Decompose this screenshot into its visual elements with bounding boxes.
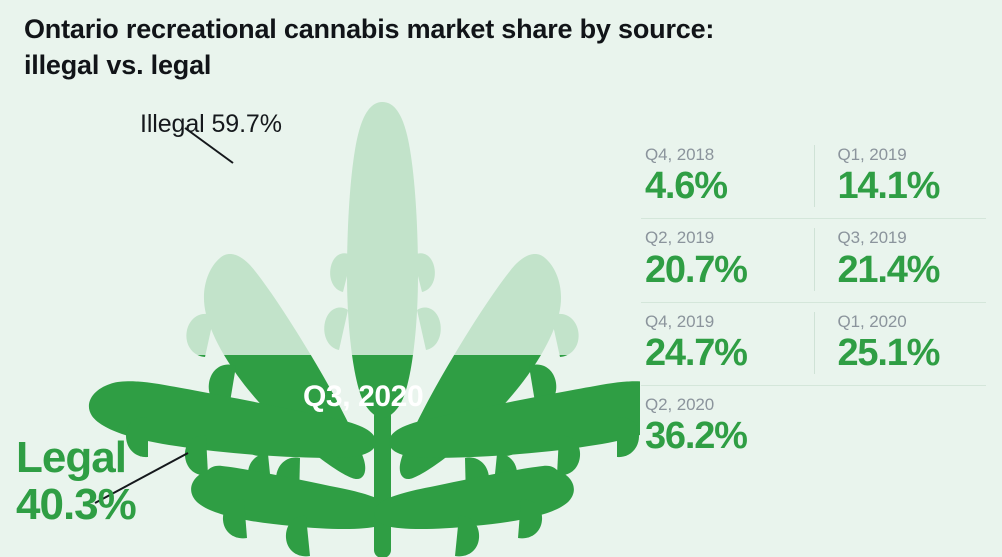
stat-cell: Q2, 201920.7% [641,219,814,301]
current-period-label: Q3, 2020 [303,380,423,414]
stat-row: Q4, 20184.6%Q1, 201914.1% [641,136,986,218]
stat-row: Q4, 201924.7%Q1, 202025.1% [641,302,986,385]
legal-share-label-word: Legal [16,434,136,481]
stat-period-label: Q4, 2019 [645,311,814,332]
legal-share-label-value: 40.3% [16,481,136,528]
stat-cell-empty [814,386,987,468]
stat-row: Q2, 202036.2% [641,385,986,468]
infographic-root: Ontario recreational cannabis market sha… [0,0,1002,557]
stat-value: 14.1% [838,166,987,207]
stat-cell: Q2, 202036.2% [641,386,814,468]
stat-value: 36.2% [645,416,814,457]
stat-period-label: Q3, 2019 [838,227,987,248]
stat-value: 4.6% [645,166,814,207]
stat-value: 25.1% [838,333,987,374]
title-line-1: Ontario recreational cannabis market sha… [24,12,864,48]
stat-value: 24.7% [645,333,814,374]
stat-row: Q2, 201920.7%Q3, 201921.4% [641,218,986,301]
legal-share-label: Legal 40.3% [16,434,136,528]
stat-period-label: Q1, 2019 [838,144,987,165]
stat-period-label: Q2, 2019 [645,227,814,248]
illegal-share-label: Illegal 59.7% [140,110,282,139]
stat-period-label: Q4, 2018 [645,144,814,165]
stat-cell: Q3, 201921.4% [814,219,987,301]
stat-period-label: Q2, 2020 [645,394,814,415]
stat-value: 20.7% [645,250,814,291]
stat-cell: Q4, 20184.6% [641,136,814,218]
stat-cell: Q4, 201924.7% [641,303,814,385]
stat-cell: Q1, 201914.1% [814,136,987,218]
historical-stats-grid: Q4, 20184.6%Q1, 201914.1%Q2, 201920.7%Q3… [641,136,986,468]
stat-period-label: Q1, 2020 [838,311,987,332]
stat-cell: Q1, 202025.1% [814,303,987,385]
stat-value: 21.4% [838,250,987,291]
page-title: Ontario recreational cannabis market sha… [24,12,864,83]
